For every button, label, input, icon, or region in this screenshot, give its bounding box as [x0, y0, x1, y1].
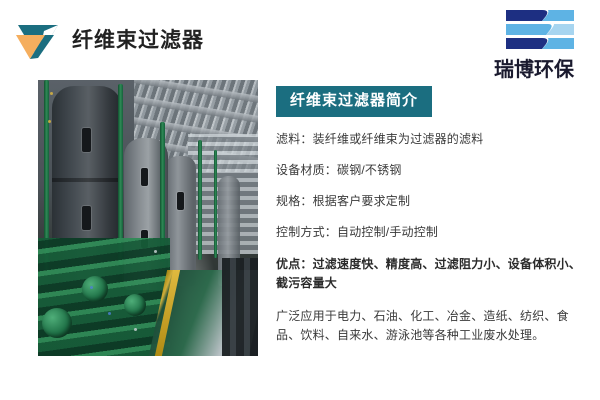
pipe-fitting [50, 92, 53, 95]
pipe-elbow [42, 308, 72, 338]
blue-wave-bars-logo-icon [502, 8, 578, 52]
photo-scene [38, 80, 258, 356]
pipe-riser [198, 140, 202, 260]
section-badge: 纤维束过滤器简介 [276, 86, 432, 117]
vessel-hatch [177, 192, 184, 210]
filter-vessel [166, 156, 196, 286]
vessel-band [52, 178, 122, 182]
spec-item-control-mode: 控制方式：自动控制/手动控制 [276, 224, 588, 241]
pipe-fitting [134, 328, 137, 331]
page-header: 纤维束过滤器 瑞博环保 [0, 0, 600, 78]
spec-item-advantages: 优点：过滤速度快、精度高、过滤阻力小、设备体积小、截污容量大 [276, 255, 588, 293]
background-vessel-row [222, 258, 258, 356]
pipe-riser [118, 84, 123, 264]
vessel-hatch [82, 128, 91, 152]
company-logo: 瑞博环保 [474, 8, 594, 78]
triangle-chevron-logo-icon [14, 22, 62, 60]
spec-item-applications: 广泛应用于电力、石油、化工、冶金、造纸、纺织、食品、饮料、自来水、游泳池等各种工… [276, 307, 588, 345]
company-name: 瑞博环保 [474, 53, 594, 82]
pipe-riser [214, 150, 217, 258]
pipe-fitting [48, 120, 51, 123]
spec-item-material: 设备材质：碳钢/不锈钢 [276, 162, 588, 179]
info-panel: 纤维束过滤器简介 滤料：装纤维或纤维束为过滤器的滤料 设备材质：碳钢/不锈钢 规… [276, 86, 588, 345]
spec-item-filter-media: 滤料：装纤维或纤维束为过滤器的滤料 [276, 131, 588, 148]
page-title: 纤维束过滤器 [72, 26, 204, 56]
pipe-elbow [124, 294, 146, 316]
pipe-fitting [90, 286, 93, 289]
spec-list: 滤料：装纤维或纤维束为过滤器的滤料 设备材质：碳钢/不锈钢 规格：根据客户要求定… [276, 131, 588, 345]
product-photo [38, 80, 258, 356]
pipe-elbow [82, 276, 108, 302]
spec-item-specification: 规格：根据客户要求定制 [276, 193, 588, 210]
vessel-hatch [141, 168, 148, 186]
pipe-fitting [108, 312, 111, 315]
vessel-hatch [82, 206, 91, 230]
pipe-fitting [154, 250, 157, 253]
